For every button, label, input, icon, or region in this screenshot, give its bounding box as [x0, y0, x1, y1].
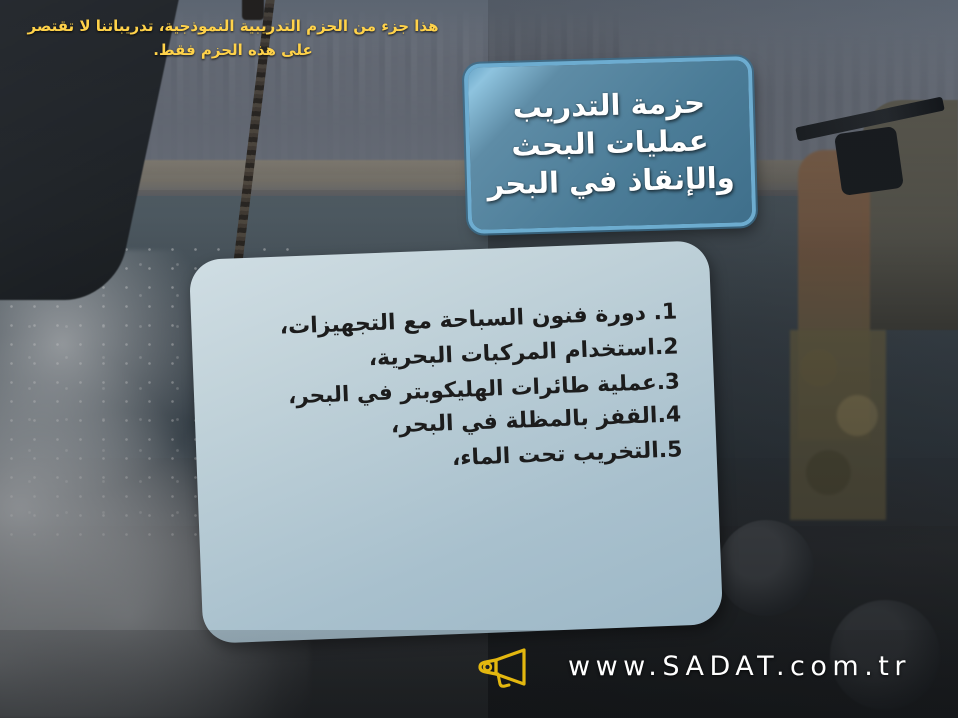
slide-root: حزمة التدريب عمليات البحث والإنقاذ في ال…: [0, 0, 958, 718]
footer-disclaimer: هذا جزء من الحزم التدريبية النموذجية، تد…: [18, 14, 448, 62]
title-line-3: والإنقاذ في البحر: [481, 158, 742, 204]
title-plaque: حزمة التدريب عمليات البحث والإنقاذ في ال…: [468, 60, 752, 230]
title-text-group: حزمة التدريب عمليات البحث والإنقاذ في ال…: [478, 82, 741, 204]
website-url[interactable]: www.SADAT.com.tr: [568, 651, 911, 682]
training-items-list: 1. دورة فنون السباحة مع التجهيزات، 2.است…: [225, 295, 683, 485]
megaphone-icon: [474, 644, 536, 688]
content-panel: 1. دورة فنون السباحة مع التجهيزات، 2.است…: [189, 240, 723, 644]
